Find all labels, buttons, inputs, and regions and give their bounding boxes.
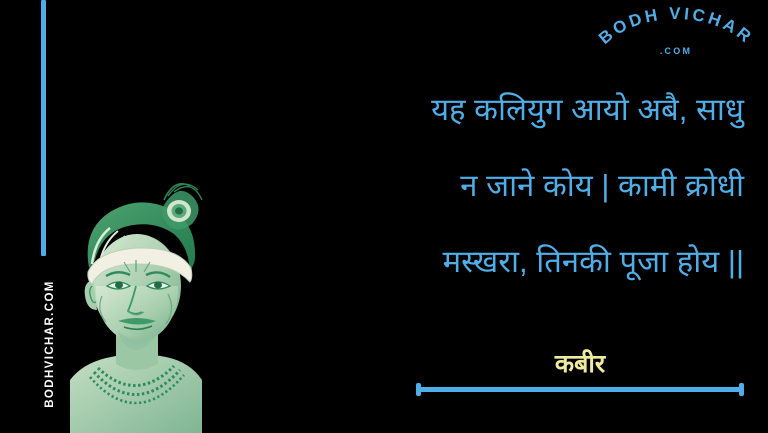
author-rule-bar [416,387,744,392]
author-rule [416,383,744,395]
quote-line-1: यह कलियुग आयो अबै, साधु [210,72,744,148]
quote-line-3: मस्खरा, तिनकी पूजा होय || [210,224,744,300]
quote-card: BODHVICHAR.COM [0,0,768,433]
author-name: कबीर [416,349,744,379]
vertical-site-label: BODHVICHAR.COM [44,269,56,419]
logo-arc-text: BODH VICHAR [595,4,757,48]
quote-block: यह कलियुग आयो अबै, साधु न जाने कोय | काम… [210,72,744,300]
left-accent-bar [41,0,46,256]
kabir-portrait [62,168,210,433]
logo-arc-textpath: BODH VICHAR [595,4,757,48]
quote-line-2: न जाने कोय | कामी क्रोधी [210,148,744,224]
author-rule-cap-right [739,383,744,396]
logo-dotcom: .COM [660,46,692,56]
bodh-vichar-logo: BODH VICHAR .COM [590,4,762,66]
